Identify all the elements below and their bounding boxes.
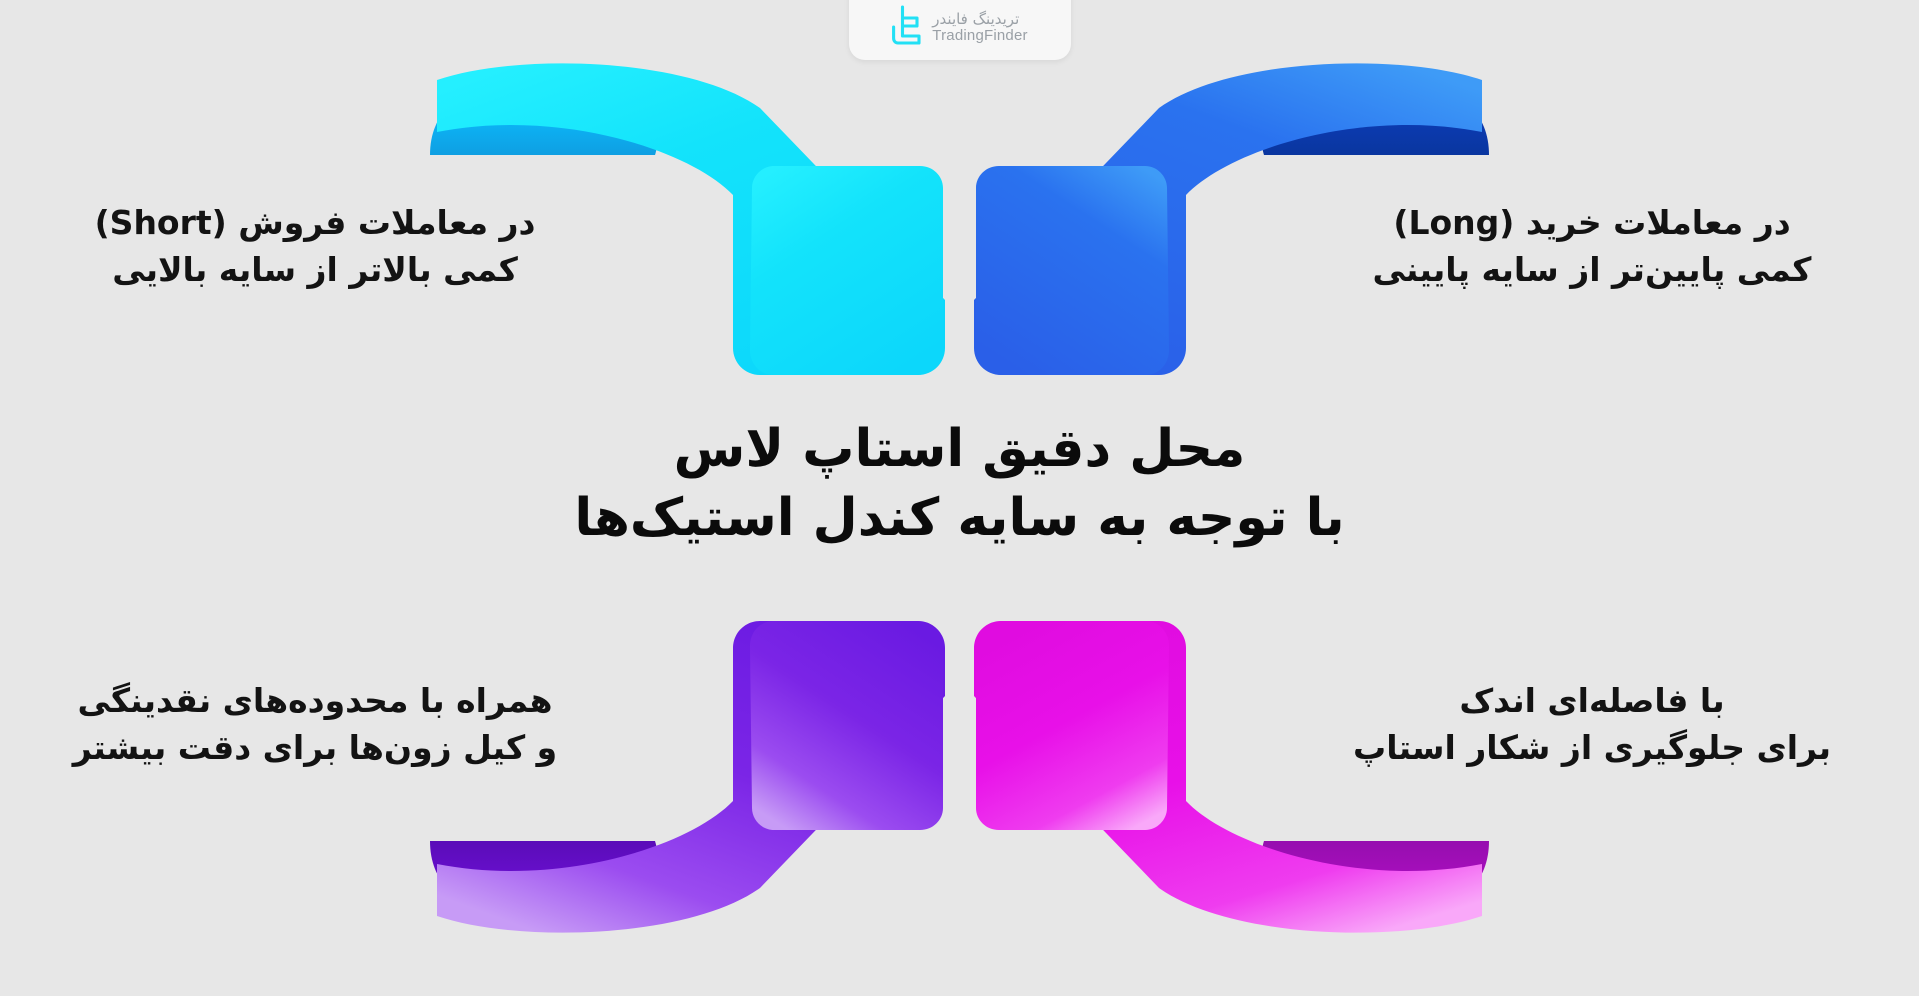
caption-bottom-right: با فاصله‌ای اندک برای جلوگیری از شکار اس… [1322, 678, 1862, 772]
tradingfinder-logo-badge[interactable]: تریدینگ فایندر TradingFinder [849, 0, 1071, 60]
caption-bottom-right-line1: با فاصله‌ای اندک [1322, 678, 1862, 725]
logo-name-en: TradingFinder [932, 28, 1027, 44]
caption-top-right-line2: کمی پایین‌تر از سایه پایینی [1322, 247, 1862, 294]
arrow-bottom-right [974, 621, 1489, 933]
logo-name-fa: تریدینگ فایندر [932, 12, 1019, 28]
caption-bottom-left-line2: و کیل زون‌ها برای دقت بیشتر [60, 725, 570, 772]
caption-bottom-left-line1: همراه با محدوده‌های نقدینگی [60, 678, 570, 725]
caption-top-right: در معاملات خرید (Long) کمی پایین‌تر از س… [1322, 200, 1862, 294]
tradingfinder-monogram-icon [892, 5, 922, 51]
caption-top-right-line1: در معاملات خرید (Long) [1322, 200, 1862, 247]
caption-top-left: در معاملات فروش (Short) کمی بالاتر از سا… [60, 200, 570, 294]
caption-bottom-right-line2: برای جلوگیری از شکار استاپ [1322, 725, 1862, 772]
caption-top-left-line1: در معاملات فروش (Short) [60, 200, 570, 247]
headline-line1: محل دقیق استاپ لاس [0, 415, 1919, 484]
arrow-bottom-left [430, 621, 945, 933]
main-headline: محل دقیق استاپ لاس با توجه به سایه کندل … [0, 415, 1919, 553]
infographic-canvas: تریدینگ فایندر TradingFinder در معاملات … [0, 0, 1919, 996]
headline-line2: با توجه به سایه کندل استیک‌ها [0, 484, 1919, 553]
caption-bottom-left: همراه با محدوده‌های نقدینگی و کیل زون‌ها… [60, 678, 570, 772]
caption-top-left-line2: کمی بالاتر از سایه بالایی [60, 247, 570, 294]
